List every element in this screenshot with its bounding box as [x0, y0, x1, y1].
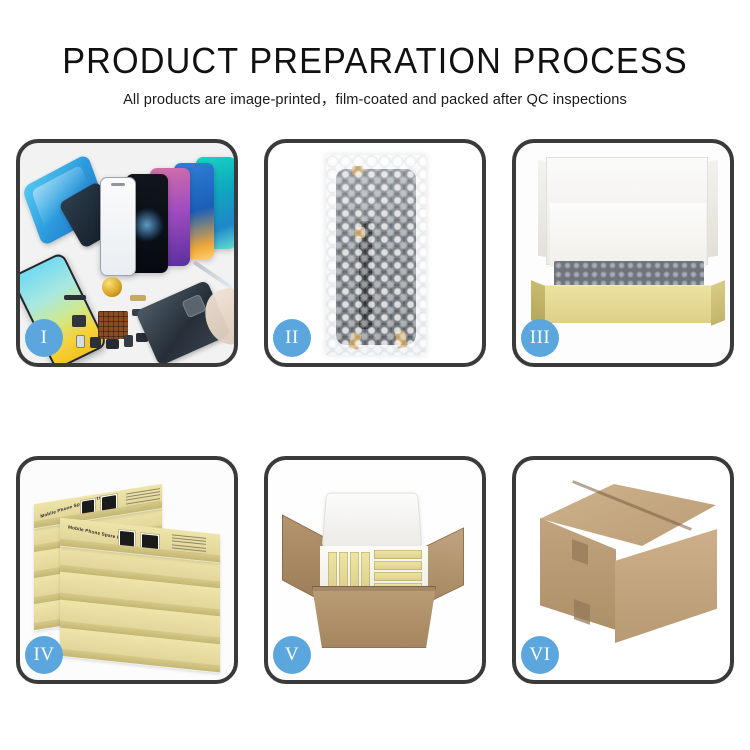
foam-liner: [550, 203, 706, 267]
header: PRODUCT PREPARATION PROCESS All products…: [0, 0, 750, 110]
foam-lid: [322, 493, 423, 548]
process-step-card-1[interactable]: I: [16, 139, 238, 367]
spare-part-speaker-icon: [90, 337, 101, 348]
spare-part-gold-flex-icon: [130, 295, 146, 301]
spare-part-sim-tray-icon: [76, 335, 85, 348]
page-subtitle: All products are image-printed，film-coat…: [0, 81, 750, 110]
step-badge-2: II: [273, 319, 311, 357]
packed-yellow-box: [374, 561, 422, 570]
process-step-grid: I II: [16, 139, 734, 684]
spare-part-button-icon: [124, 335, 133, 347]
carton-right-face: [615, 529, 717, 643]
step-badge-5: V: [273, 636, 311, 674]
packed-yellow-box: [374, 550, 422, 559]
bubble-wrap-bag: [326, 155, 426, 355]
gold-coil-part-icon: [102, 277, 122, 297]
carton-body: [312, 586, 436, 648]
product-preparation-infographic: PRODUCT PREPARATION PROCESS All products…: [0, 0, 750, 750]
bubble-texture-overlay: [326, 155, 426, 355]
spare-part-module-icon: [72, 315, 86, 327]
phone-screen-fan: [92, 157, 234, 271]
step-badge-1: I: [25, 319, 63, 357]
process-step-card-3[interactable]: III: [512, 139, 734, 367]
step-badge-3: III: [521, 319, 559, 357]
screen-protector-glass-icon: [100, 177, 136, 276]
process-step-card-6[interactable]: VI: [512, 456, 734, 684]
step-badge-4: IV: [25, 636, 63, 674]
process-step-card-4[interactable]: Mobile Phone Spare Parts: [16, 456, 238, 684]
spare-part-camera-icon: [106, 339, 119, 349]
process-step-card-2[interactable]: II: [264, 139, 486, 367]
packed-yellow-box: [374, 572, 422, 581]
step-badge-6: VI: [521, 636, 559, 674]
yellow-box-base: [540, 285, 716, 323]
spare-part-bar-icon: [64, 295, 86, 300]
page-title: PRODUCT PREPARATION PROCESS: [19, 0, 732, 81]
process-step-card-5[interactable]: V: [264, 456, 486, 684]
